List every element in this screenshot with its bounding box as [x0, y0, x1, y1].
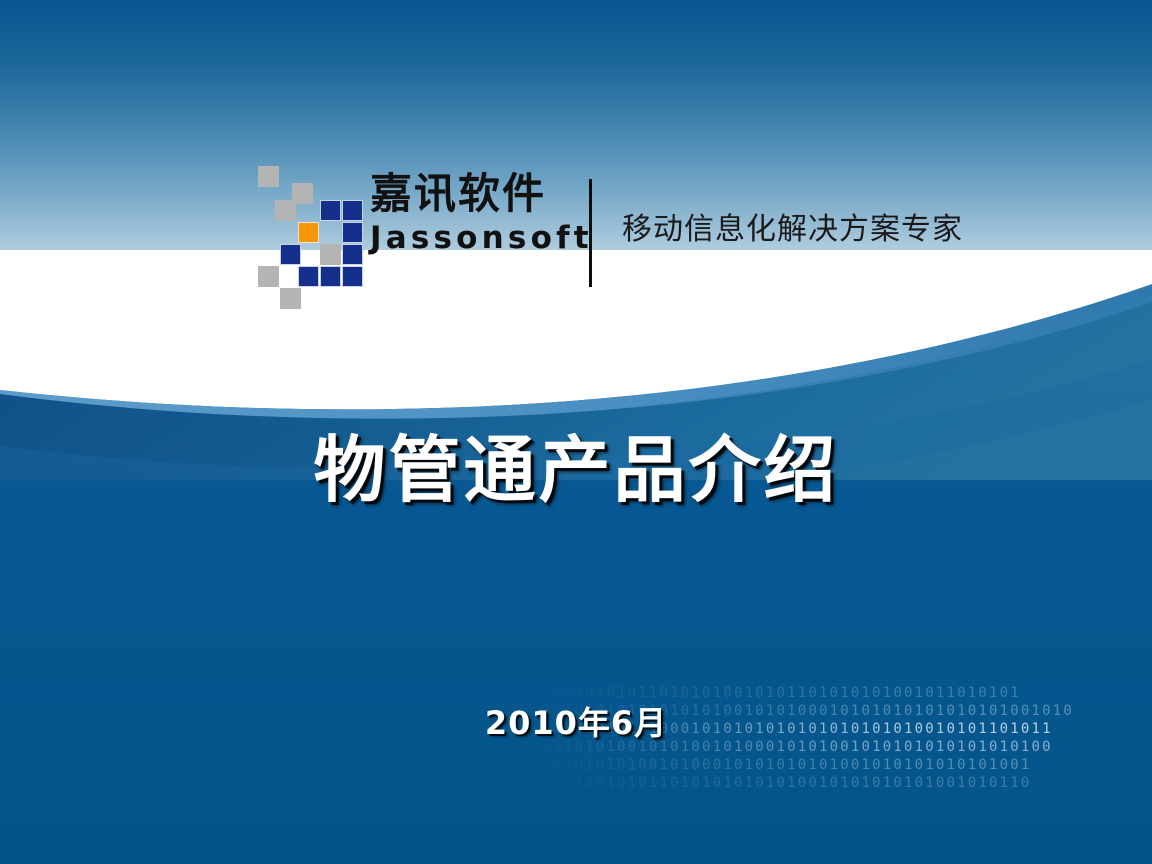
- mosaic-cell: [342, 266, 363, 287]
- mosaic-cell: [258, 266, 279, 287]
- mosaic-cell: [320, 200, 341, 221]
- company-tagline: 移动信息化解决方案专家: [622, 204, 963, 248]
- logo-header: 嘉讯软件 Jassonsoft 移动信息化解决方案专家: [258, 166, 978, 291]
- mosaic-cell: [342, 222, 363, 243]
- mosaic-cell: [280, 288, 301, 309]
- logo-tagline-divider: [589, 179, 592, 287]
- company-name-en: Jassonsoft: [370, 220, 585, 256]
- mosaic-cell: [275, 200, 296, 221]
- company-name-cn: 嘉讯软件: [370, 168, 585, 220]
- binary-row: 1010100101011010101010101001010101010100…: [532, 774, 1152, 792]
- mosaic-cell-accent: [298, 222, 319, 243]
- mosaic-cell: [298, 266, 319, 287]
- presentation-date: 2010年6月: [0, 698, 1152, 744]
- mosaic-cell: [280, 244, 301, 265]
- jassonsoft-mosaic-logo-icon: [258, 166, 362, 284]
- mosaic-cell: [258, 166, 279, 187]
- mosaic-cell: [342, 244, 363, 265]
- mosaic-cell: [320, 266, 341, 287]
- mosaic-cell: [320, 244, 341, 265]
- page-title: 物管通产品介绍: [0, 424, 1152, 516]
- company-wordmark: 嘉讯软件 Jassonsoft: [370, 168, 585, 256]
- mosaic-cell: [342, 200, 363, 221]
- title-slide: 1010101010110101010010101101010101001011…: [0, 0, 1152, 864]
- binary-row: 0101010101001010001010101010100101010101…: [532, 756, 1152, 774]
